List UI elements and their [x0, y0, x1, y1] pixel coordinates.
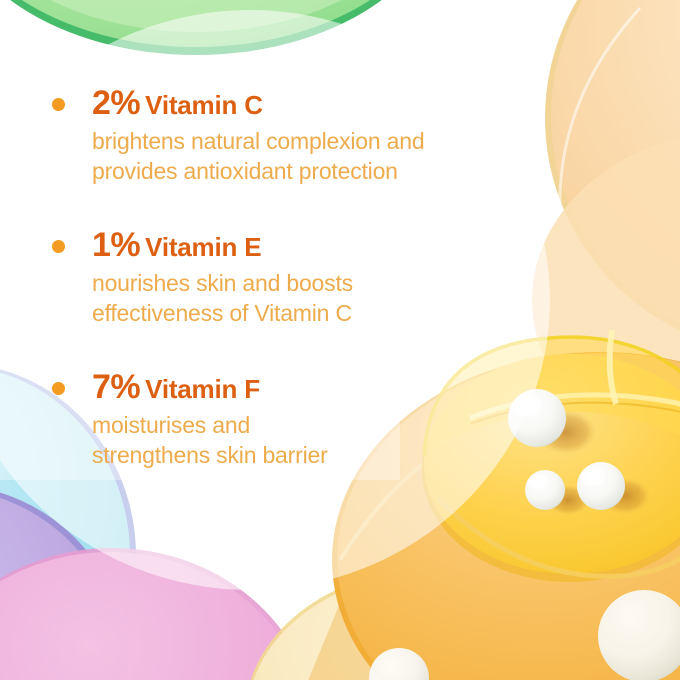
cream-disc-bottom-right	[246, 564, 658, 680]
bullet-heading: 1%Vitamin E	[92, 228, 572, 262]
white-sphere-small	[525, 470, 590, 515]
bullet-description-line: provides antioxidant protection	[92, 156, 572, 186]
bullet-dot-icon	[52, 240, 65, 253]
pink-disc-bottom	[0, 548, 318, 680]
promo-graphic: 2%Vitamin C brightens natural complexion…	[0, 0, 680, 680]
bullet-heading: 7%Vitamin F	[92, 370, 572, 404]
bullet-description-line: nourishes skin and boosts	[92, 268, 572, 298]
bullet-ingredient: Vitamin C	[145, 90, 263, 120]
bullet-description-line: effectiveness of Vitamin C	[92, 298, 572, 328]
bullet-percent: 1%	[92, 226, 140, 264]
white-sphere-medium	[577, 462, 650, 514]
bullet-body: 2%Vitamin C brightens natural complexion…	[92, 86, 572, 187]
bullet-description: moisturises and strengthens skin barrier	[92, 410, 572, 471]
list-item: 2%Vitamin C brightens natural complexion…	[52, 86, 572, 187]
violet-disc-bottom-left	[0, 484, 126, 680]
list-item: 7%Vitamin F moisturises and strengthens …	[52, 370, 572, 471]
bullet-percent: 2%	[92, 84, 140, 122]
white-sphere-bottom-left	[369, 648, 429, 680]
bullet-ingredient: Vitamin E	[145, 232, 261, 262]
bullet-description: nourishes skin and boosts effectiveness …	[92, 268, 572, 329]
bullet-description: brightens natural complexion and provide…	[92, 126, 572, 187]
bullet-description-line: strengthens skin barrier	[92, 440, 572, 470]
white-sphere-bottom-right	[598, 590, 680, 680]
bullet-body: 7%Vitamin F moisturises and strengthens …	[92, 370, 572, 471]
bullet-dot-icon	[52, 382, 65, 395]
green-disc-top-left	[0, 0, 444, 55]
bullet-description-line: moisturises and	[92, 410, 572, 440]
bullet-dot-icon	[52, 98, 65, 111]
bullet-body: 1%Vitamin E nourishes skin and boosts ef…	[92, 228, 572, 329]
list-item: 1%Vitamin E nourishes skin and boosts ef…	[52, 228, 572, 329]
bullet-ingredient: Vitamin F	[145, 374, 260, 404]
bullet-description-line: brightens natural complexion and	[92, 126, 572, 156]
bullet-heading: 2%Vitamin C	[92, 86, 572, 120]
bullet-percent: 7%	[92, 368, 140, 406]
